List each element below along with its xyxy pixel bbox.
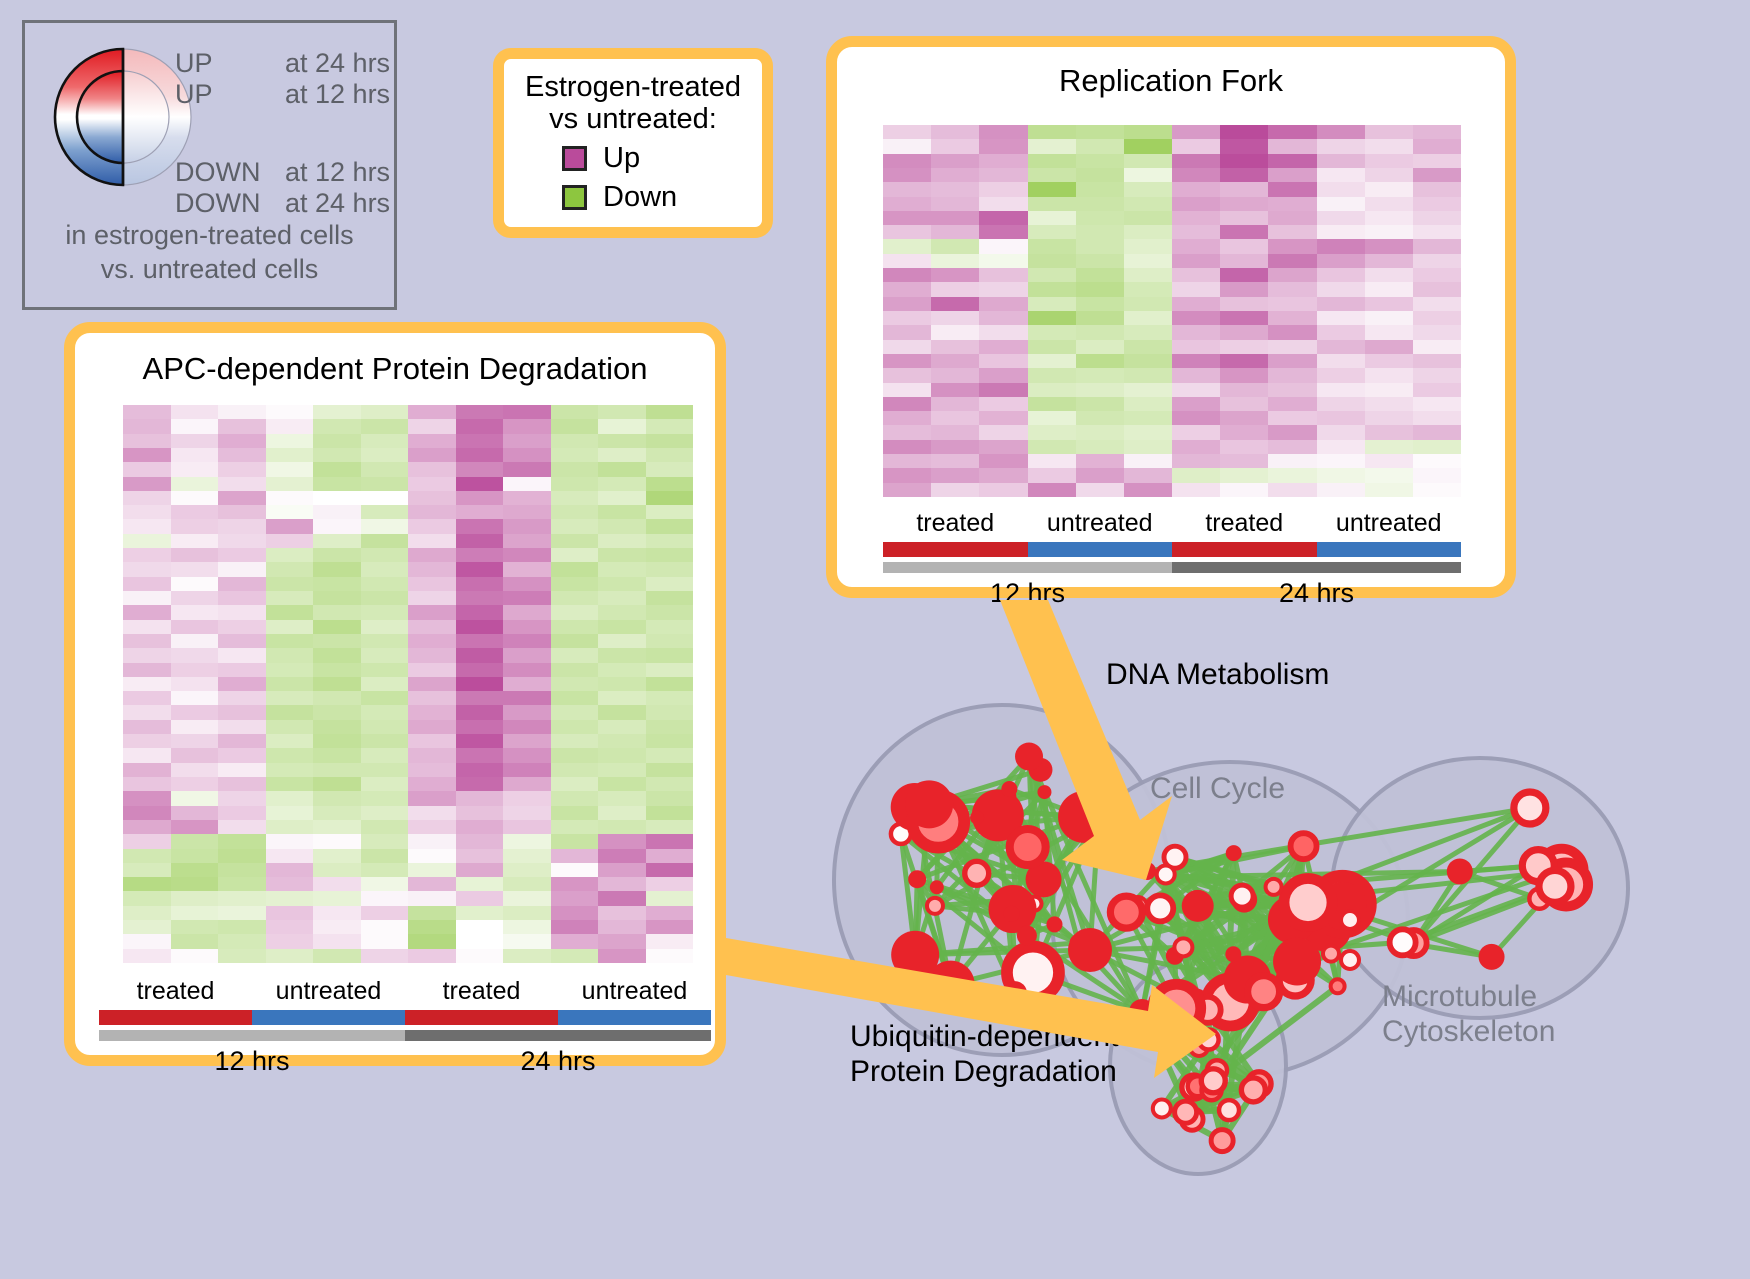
heatmap-cell <box>979 297 1027 311</box>
heatmap-cell <box>1413 483 1461 497</box>
heatmap-cell <box>1317 325 1365 339</box>
heatmap-cell <box>503 405 551 419</box>
heatmap-cell <box>551 648 599 662</box>
heatmap-cell <box>313 562 361 576</box>
network-node <box>1241 1078 1265 1102</box>
network-label-microtubule-cytoskeleton: Microtubule Cytoskeleton <box>1382 980 1555 1049</box>
heatmap-cell <box>931 383 979 397</box>
heatmap-cell <box>1028 225 1076 239</box>
condition-label: treated <box>405 977 558 1006</box>
heatmap-cell <box>646 620 694 634</box>
heatmap-cell <box>171 577 219 591</box>
condition-label: treated <box>99 977 252 1006</box>
heatmap-cell <box>598 562 646 576</box>
condition-color-bar <box>99 1010 711 1025</box>
heatmap-cell <box>456 505 504 519</box>
heatmap-cell <box>313 605 361 619</box>
heatmap-cell <box>361 691 409 705</box>
heatmap-cell <box>123 677 171 691</box>
network-node <box>1341 911 1359 929</box>
heatmap-cell <box>503 591 551 605</box>
heatmap-cell <box>598 634 646 648</box>
heatmap-cell <box>883 282 931 296</box>
heatmap-cell <box>551 677 599 691</box>
heatmap-cell <box>1124 383 1172 397</box>
heatmap-cell <box>1220 440 1268 454</box>
heatmap-cell <box>361 891 409 905</box>
heatmap-cell <box>1028 154 1076 168</box>
heatmap-cell <box>1268 268 1316 282</box>
heatmap-cell <box>266 577 314 591</box>
heatmap-cell <box>503 863 551 877</box>
time-label: 24 hrs <box>1172 578 1461 609</box>
heatmap-cell <box>1028 282 1076 296</box>
heatmap-cell <box>1220 197 1268 211</box>
heatmap-cell <box>408 648 456 662</box>
heatmap-cell <box>931 483 979 497</box>
heatmap-cell <box>598 720 646 734</box>
heatmap-cell <box>979 139 1027 153</box>
heatmap-cell <box>361 648 409 662</box>
heatmap-cell <box>408 620 456 634</box>
figure-root: UP at 24 hrs UP at 12 hrs DOWN at 12 hrs… <box>0 0 1750 1279</box>
condition-seg-untreated <box>252 1010 405 1025</box>
heatmap-cell <box>171 891 219 905</box>
heatmap-cell <box>313 734 361 748</box>
heatmap-cell <box>361 949 409 963</box>
heatmap-cell <box>1365 211 1413 225</box>
heatmap-cell <box>1317 340 1365 354</box>
heatmap-cell <box>171 834 219 848</box>
heatmap-cell <box>313 934 361 948</box>
heatmap-cell <box>1124 354 1172 368</box>
heatmap-cell <box>1124 440 1172 454</box>
heatmap-cell <box>1268 440 1316 454</box>
network-node <box>1226 845 1242 861</box>
heatmap-cell <box>1028 468 1076 482</box>
heatmap-cell <box>1172 168 1220 182</box>
heatmap-cell <box>408 920 456 934</box>
heatmap-cell <box>1413 197 1461 211</box>
heatmap-cell <box>1124 297 1172 311</box>
heatmap-cell <box>1317 125 1365 139</box>
heatmap-cell <box>551 777 599 791</box>
heatmap-cell <box>598 834 646 848</box>
heatmap-cell <box>1268 454 1316 468</box>
heatmap-cell <box>408 677 456 691</box>
heatmap-cell <box>646 505 694 519</box>
heatmap-cell <box>1220 411 1268 425</box>
heatmap-cell <box>456 591 504 605</box>
panel-title: APC-dependent Protein Degradation <box>75 351 715 387</box>
heatmap-cell <box>218 562 266 576</box>
heatmap-cell <box>1028 254 1076 268</box>
heatmap-cell <box>408 562 456 576</box>
heatmap-cell <box>218 891 266 905</box>
heatmap-cell <box>361 849 409 863</box>
heatmap-cell <box>266 920 314 934</box>
heatmap-cell <box>646 577 694 591</box>
heatmap-cell <box>598 806 646 820</box>
heatmap-cell <box>1317 411 1365 425</box>
heatmap-cell <box>1076 411 1124 425</box>
heatmap-cell <box>883 125 931 139</box>
heatmap-cell <box>646 591 694 605</box>
condition-seg-treated <box>99 1010 252 1025</box>
network-label-ubiquitin-protein-degradation: Ubiquitin-dependent Protein Degradation <box>850 1020 1119 1089</box>
heatmap-cell <box>123 806 171 820</box>
heatmap-cell <box>408 777 456 791</box>
heatmap-cell <box>408 448 456 462</box>
heatmap-cell <box>883 383 931 397</box>
heatmap-cell <box>361 448 409 462</box>
heatmap-cell <box>266 663 314 677</box>
heatmap-cell <box>313 906 361 920</box>
heatmap-cell <box>503 791 551 805</box>
heatmap-cell <box>266 434 314 448</box>
heatmap-cell <box>1220 483 1268 497</box>
heatmap-cell <box>551 419 599 433</box>
heatmap-cell <box>598 477 646 491</box>
heatmap-cell <box>1172 311 1220 325</box>
heatmap-cell <box>551 763 599 777</box>
heatmap-cell <box>361 519 409 533</box>
heatmap-cell <box>171 591 219 605</box>
heatmap-cell <box>408 691 456 705</box>
heatmap-cell <box>1317 254 1365 268</box>
heatmap-cell <box>313 491 361 505</box>
heatmap-cell <box>408 419 456 433</box>
heatmap-cell <box>456 405 504 419</box>
heatmap-cell <box>1220 282 1268 296</box>
heatmap-cell <box>123 519 171 533</box>
heatmap-cell <box>408 934 456 948</box>
heatmap-cell <box>313 863 361 877</box>
heatmap-cell <box>1076 354 1124 368</box>
heatmap-cell <box>503 849 551 863</box>
heatmap-cell <box>1172 254 1220 268</box>
heatmap-cell <box>1076 239 1124 253</box>
heatmap-cell <box>883 340 931 354</box>
network-node <box>1266 879 1282 895</box>
heatmap-cell <box>123 620 171 634</box>
panel-title: Replication Fork <box>837 63 1505 99</box>
heatmap-cell <box>931 268 979 282</box>
heatmap-cell <box>123 891 171 905</box>
heatmap-cell <box>551 877 599 891</box>
heatmap-cell <box>551 849 599 863</box>
heatmap-cell <box>123 663 171 677</box>
heatmap-cell <box>883 225 931 239</box>
heatmap-cell <box>313 705 361 719</box>
heatmap-cell <box>883 425 931 439</box>
heatmap-cell <box>1076 297 1124 311</box>
heatmap-cell <box>218 820 266 834</box>
heatmap-cell <box>1365 239 1413 253</box>
heatmap-cell <box>1028 268 1076 282</box>
heatmap-cell <box>1076 139 1124 153</box>
heatmap-cell <box>931 239 979 253</box>
heatmap-cell <box>503 934 551 948</box>
heatmap-cell <box>551 591 599 605</box>
condition-labels: treated untreated treated untreated <box>99 977 711 1006</box>
heatmap-cell <box>1124 239 1172 253</box>
network-node <box>1004 906 1020 922</box>
heatmap-cell <box>1268 468 1316 482</box>
heatmap-apc <box>123 405 693 963</box>
heatmap-cell <box>551 462 599 476</box>
heatmap-cell <box>218 705 266 719</box>
network-node <box>965 861 989 885</box>
heatmap-cell <box>1268 425 1316 439</box>
heatmap-cell <box>1413 468 1461 482</box>
heatmap-cell <box>598 949 646 963</box>
heatmap-cell <box>1028 311 1076 325</box>
heatmap-cell <box>361 405 409 419</box>
heatmap-cell <box>1172 268 1220 282</box>
heatmap-cell <box>883 368 931 382</box>
heatmap-cell <box>883 239 931 253</box>
network-node <box>1331 979 1345 993</box>
heatmap-cell <box>1220 182 1268 196</box>
heatmap-cell <box>266 934 314 948</box>
heatmap-cell <box>218 677 266 691</box>
heatmap-cell <box>503 720 551 734</box>
heatmap-cell <box>1317 397 1365 411</box>
heatmap-cell <box>598 448 646 462</box>
heatmap-cell <box>408 491 456 505</box>
heatmap-cell <box>503 634 551 648</box>
heatmap-cell <box>1317 239 1365 253</box>
heatmap-cell <box>931 354 979 368</box>
heatmap-cell <box>266 448 314 462</box>
heatmap-cell <box>598 705 646 719</box>
heatmap-cell <box>456 605 504 619</box>
heatmap-cell <box>408 806 456 820</box>
heatmap-cell <box>1220 239 1268 253</box>
heatmap-cell <box>1413 268 1461 282</box>
heatmap-cell <box>646 834 694 848</box>
heatmap-cell <box>123 477 171 491</box>
heatmap-cell <box>266 906 314 920</box>
heatmap-cell <box>123 834 171 848</box>
heatmap-cell <box>551 477 599 491</box>
heatmap-cell <box>1124 225 1172 239</box>
heatmap-cell <box>408 477 456 491</box>
heatmap-cell <box>456 934 504 948</box>
heatmap-cell <box>1365 254 1413 268</box>
heatmap-cell <box>503 763 551 777</box>
heatmap-cell <box>931 397 979 411</box>
legend-item-up: Up <box>562 142 762 175</box>
heatmap-cell <box>408 734 456 748</box>
heatmap-cell <box>1268 411 1316 425</box>
heatmap-cell <box>408 877 456 891</box>
heatmap-cell <box>979 454 1027 468</box>
heatmap-cell <box>361 677 409 691</box>
heatmap-cell <box>979 254 1027 268</box>
heatmap-cell <box>646 519 694 533</box>
heatmap-cell <box>646 648 694 662</box>
heatmap-cell <box>1028 354 1076 368</box>
heatmap-cell <box>1028 182 1076 196</box>
heatmap-cell <box>1317 168 1365 182</box>
heatmap-cell <box>931 340 979 354</box>
heatmap-cell <box>408 720 456 734</box>
heatmap-cell <box>1268 225 1316 239</box>
heatmap-cell <box>361 548 409 562</box>
heatmap-cell <box>266 534 314 548</box>
heatmap-cell <box>1028 425 1076 439</box>
heatmap-cell <box>361 820 409 834</box>
heatmap-cell <box>1317 225 1365 239</box>
heatmap-cell <box>1268 168 1316 182</box>
heatmap-cell <box>1220 397 1268 411</box>
condition-seg-untreated <box>1028 542 1173 557</box>
heatmap-cell <box>598 877 646 891</box>
heatmap-cell <box>551 405 599 419</box>
heatmap-cell <box>551 634 599 648</box>
heatmap-cell <box>313 519 361 533</box>
heatmap-cell <box>266 849 314 863</box>
condition-seg-treated <box>1172 542 1317 557</box>
heatmap-cell <box>266 419 314 433</box>
heatmap-cell <box>266 648 314 662</box>
color-key-direction: DOWN <box>175 158 285 187</box>
heatmap-cell <box>1028 383 1076 397</box>
heatmap-cell <box>1028 397 1076 411</box>
heatmap-cell <box>1028 139 1076 153</box>
heatmap-cell <box>218 949 266 963</box>
heatmap-cell <box>598 648 646 662</box>
heatmap-cell <box>931 468 979 482</box>
network-label-dna-metabolism: DNA Metabolism <box>1106 658 1329 692</box>
heatmap-cell <box>123 648 171 662</box>
heatmap-cell <box>1076 383 1124 397</box>
heatmap-cell <box>1172 483 1220 497</box>
heatmap-cell <box>266 705 314 719</box>
heatmap-cell <box>456 620 504 634</box>
condition-seg-treated <box>883 542 1028 557</box>
heatmap-cell <box>979 368 1027 382</box>
heatmap-cell <box>123 705 171 719</box>
heatmap-cell <box>1124 411 1172 425</box>
heatmap-cell <box>123 863 171 877</box>
heatmap-cell <box>979 325 1027 339</box>
heatmap-cell <box>456 648 504 662</box>
heatmap-cell <box>266 548 314 562</box>
heatmap-cell <box>931 368 979 382</box>
heatmap-cell <box>456 691 504 705</box>
heatmap-cell <box>646 562 694 576</box>
heatmap-cell <box>1172 239 1220 253</box>
heatmap-cell <box>979 239 1027 253</box>
heatmap-cell <box>1268 154 1316 168</box>
network-node <box>1046 916 1062 932</box>
heatmap-cell <box>931 125 979 139</box>
heatmap-cell <box>931 325 979 339</box>
heatmap-cell <box>313 419 361 433</box>
heatmap-cell <box>408 663 456 677</box>
heatmap-cell <box>1413 239 1461 253</box>
network-node <box>1015 743 1043 771</box>
heatmap-cell <box>408 548 456 562</box>
heatmap-cell <box>598 405 646 419</box>
heatmap-cell <box>551 791 599 805</box>
heatmap-cell <box>551 548 599 562</box>
heatmap-cell <box>931 154 979 168</box>
heatmap-cell <box>1124 197 1172 211</box>
heatmap-cell <box>1172 440 1220 454</box>
heatmap-cell <box>313 548 361 562</box>
heatmap-cell <box>123 777 171 791</box>
heatmap-cell <box>1220 368 1268 382</box>
network-node <box>1174 938 1192 956</box>
heatmap-cell <box>503 648 551 662</box>
heatmap-cell <box>883 182 931 196</box>
network-node <box>1291 833 1317 859</box>
heatmap-cell <box>1317 311 1365 325</box>
heatmap-cell <box>1365 154 1413 168</box>
color-key-footer-line1: in estrogen-treated cells <box>25 219 394 253</box>
heatmap-cell <box>1172 182 1220 196</box>
heatmap-cell <box>456 634 504 648</box>
heatmap-cell <box>1076 125 1124 139</box>
heatmap-cell <box>1220 383 1268 397</box>
network-node <box>1129 999 1155 1025</box>
network-node <box>1479 944 1505 970</box>
heatmap-cell <box>218 777 266 791</box>
network-node <box>1539 870 1571 902</box>
heatmap-cell <box>408 577 456 591</box>
heatmap-cell <box>931 225 979 239</box>
heatmap-cell <box>551 820 599 834</box>
heatmap-cell <box>361 791 409 805</box>
heatmap-cell <box>979 425 1027 439</box>
heatmap-cell <box>646 877 694 891</box>
heatmap-cell <box>1124 483 1172 497</box>
heatmap-cell <box>408 763 456 777</box>
heatmap-cell <box>123 949 171 963</box>
heatmap-cell <box>1076 368 1124 382</box>
heatmap-cell <box>1028 168 1076 182</box>
heatmap-cell <box>598 734 646 748</box>
heatmap-cell <box>598 677 646 691</box>
heatmap-cell <box>123 734 171 748</box>
heatmap-cell <box>361 434 409 448</box>
heatmap-cell <box>218 505 266 519</box>
time-label: 12 hrs <box>883 578 1172 609</box>
heatmap-cell <box>1365 454 1413 468</box>
heatmap-cell <box>551 577 599 591</box>
heatmap-cell <box>266 591 314 605</box>
heatmap-cell <box>551 906 599 920</box>
heatmap-cell <box>931 411 979 425</box>
heatmap-cell <box>1076 225 1124 239</box>
heatmap-cell <box>646 906 694 920</box>
heatmap-cell <box>598 548 646 562</box>
heatmap-cell <box>883 139 931 153</box>
heatmap-cell <box>408 591 456 605</box>
color-key-box: UP at 24 hrs UP at 12 hrs DOWN at 12 hrs… <box>22 20 397 310</box>
heatmap-cell <box>171 605 219 619</box>
heatmap-cell <box>598 863 646 877</box>
heatmap-cell <box>361 906 409 920</box>
network-node <box>891 931 939 979</box>
heatmap-cell <box>1317 139 1365 153</box>
heatmap-cell <box>171 562 219 576</box>
heatmap-cell <box>883 440 931 454</box>
